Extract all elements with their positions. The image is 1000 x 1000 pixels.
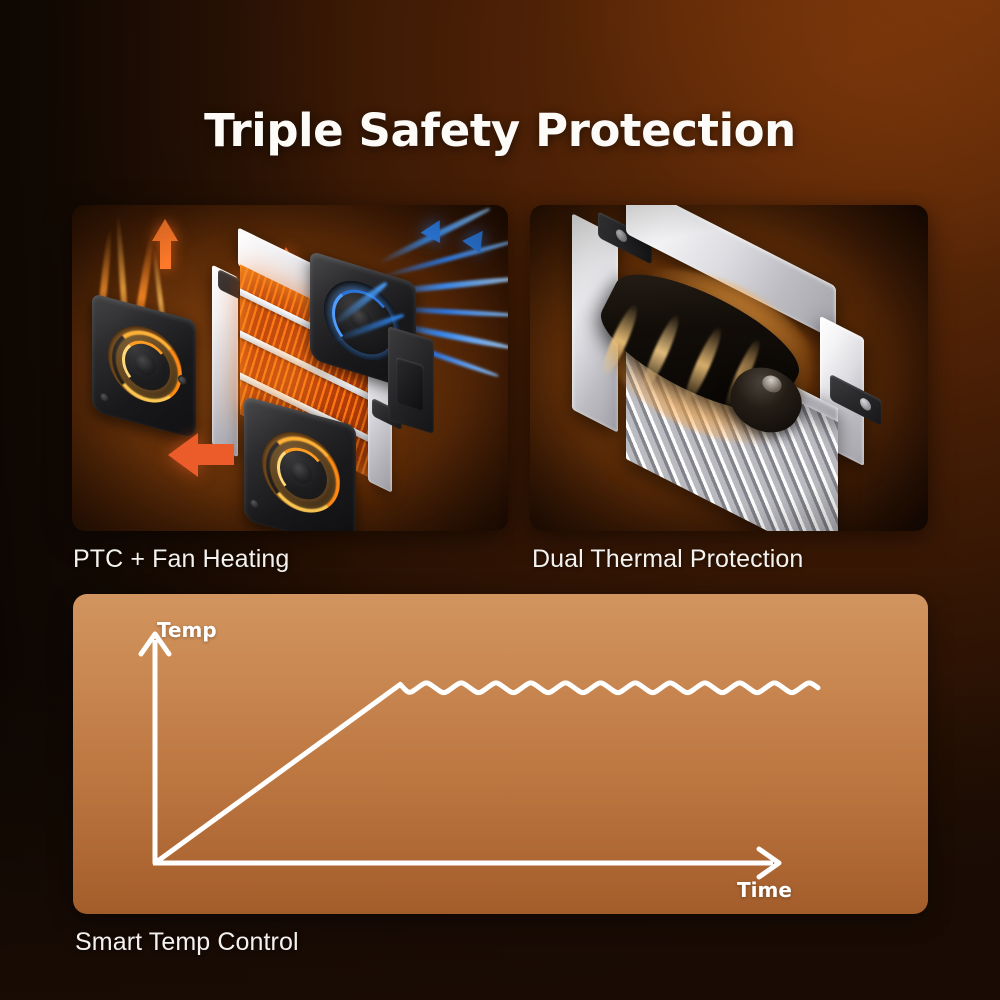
- photo-vignette: [72, 205, 508, 531]
- temp-time-chart-svg: [73, 594, 928, 914]
- infographic-stage: Triple Safety Protection: [0, 0, 1000, 1000]
- image-dual-thermal-protection: [530, 205, 928, 531]
- axis-label-time: Time: [737, 878, 792, 902]
- caption-ptc-fan-heating: PTC + Fan Heating: [73, 545, 289, 574]
- temperature-curve: [155, 683, 818, 863]
- image-ptc-fan-heating: [72, 205, 508, 531]
- caption-smart-temp-control: Smart Temp Control: [75, 928, 299, 957]
- page-title: Triple Safety Protection: [0, 104, 1000, 157]
- caption-dual-thermal-protection: Dual Thermal Protection: [532, 545, 803, 574]
- photo-vignette: [530, 205, 928, 531]
- axis-label-temp: Temp: [157, 618, 217, 642]
- chart-smart-temp-control: Temp Time: [73, 594, 928, 914]
